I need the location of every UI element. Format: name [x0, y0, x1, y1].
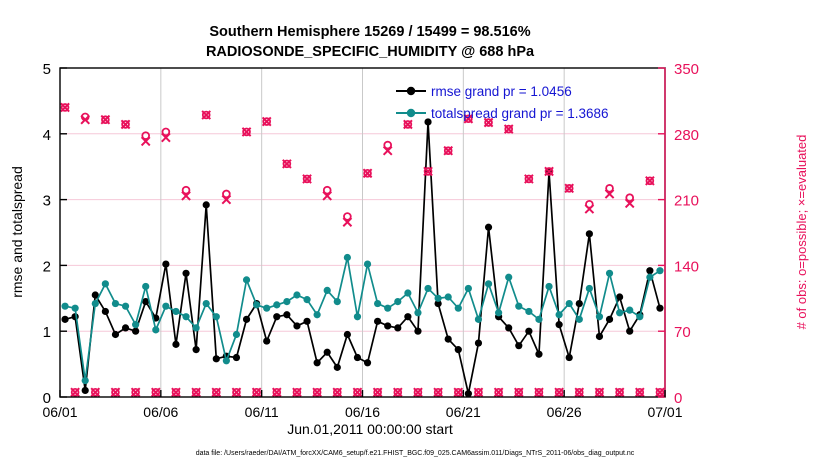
x-tick-label: 07/01 [647, 404, 682, 420]
legend-label-totalspread: totalspread grand pr = 1.3686 [431, 106, 609, 121]
y-tick-label: 1 [43, 324, 51, 341]
y-axis-right-label: # of obs: o=possible; ×=evaluated [794, 135, 809, 330]
y-tick-label: 5 [43, 61, 51, 78]
chart-title-line1: Southern Hemisphere 15269 / 15499 = 98.5… [209, 24, 530, 40]
y2-tick-label: 350 [674, 61, 699, 78]
x-tick-label: 06/26 [547, 404, 582, 420]
chart-figure: Southern Hemisphere 15269 / 15499 = 98.5… [0, 0, 830, 470]
y-axis-left-label: rmse and totalspread [9, 166, 25, 298]
y-tick-label: 4 [43, 127, 51, 144]
legend-label-rmse: rmse grand pr = 1.0456 [431, 84, 572, 99]
x-axis-label: Jun.01,2011 00:00:00 start [287, 421, 453, 437]
y2-tick-label: 70 [674, 324, 691, 341]
y2-tick-label: 280 [674, 127, 699, 144]
figure-background [0, 0, 830, 470]
footer-datafile: data file: /Users/raeder/DAI/ATM_forcXX/… [196, 450, 635, 457]
legend-marker-totalspread [407, 109, 415, 117]
x-tick-label: 06/01 [42, 404, 77, 420]
x-tick-label: 06/11 [245, 404, 279, 420]
y2-tick-label: 140 [674, 258, 699, 275]
x-tick-label: 06/06 [143, 404, 178, 420]
x-tick-label: 06/16 [345, 404, 380, 420]
legend-marker-rmse [407, 87, 415, 95]
y2-tick-label: 210 [674, 193, 699, 210]
y-tick-label: 2 [43, 258, 51, 275]
y-tick-label: 3 [43, 193, 51, 210]
chart-title-line2: RADIOSONDE_SPECIFIC_HUMIDITY @ 688 hPa [206, 44, 535, 60]
x-tick-label: 06/21 [446, 404, 481, 420]
